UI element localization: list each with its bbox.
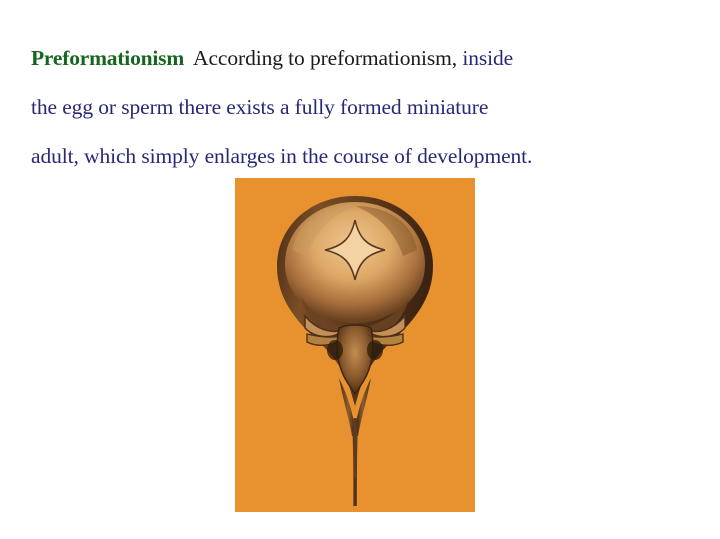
slide-text-block: PreformationismAccording to preformation… bbox=[31, 34, 697, 181]
line-1-lede: According to preformationism, bbox=[193, 46, 457, 70]
term-preformationism: Preformationism bbox=[31, 46, 184, 70]
line-1-blue-tail: inside bbox=[462, 46, 513, 70]
paragraph-line-1: PreformationismAccording to preformation… bbox=[31, 34, 697, 83]
homunculus-torso bbox=[337, 325, 373, 394]
hollow-right bbox=[367, 340, 383, 360]
homunculus-limbs bbox=[305, 316, 405, 394]
tail-tip bbox=[354, 478, 356, 506]
paragraph-line-3: adult, which simply enlarges in the cour… bbox=[31, 132, 697, 181]
homunculus-figure bbox=[235, 178, 475, 512]
slide-canvas: PreformationismAccording to preformation… bbox=[0, 0, 720, 539]
sperm-homunculus-drawing bbox=[235, 178, 475, 512]
hollow-left bbox=[327, 340, 343, 360]
paragraph-line-2: the egg or sperm there exists a fully fo… bbox=[31, 83, 697, 132]
